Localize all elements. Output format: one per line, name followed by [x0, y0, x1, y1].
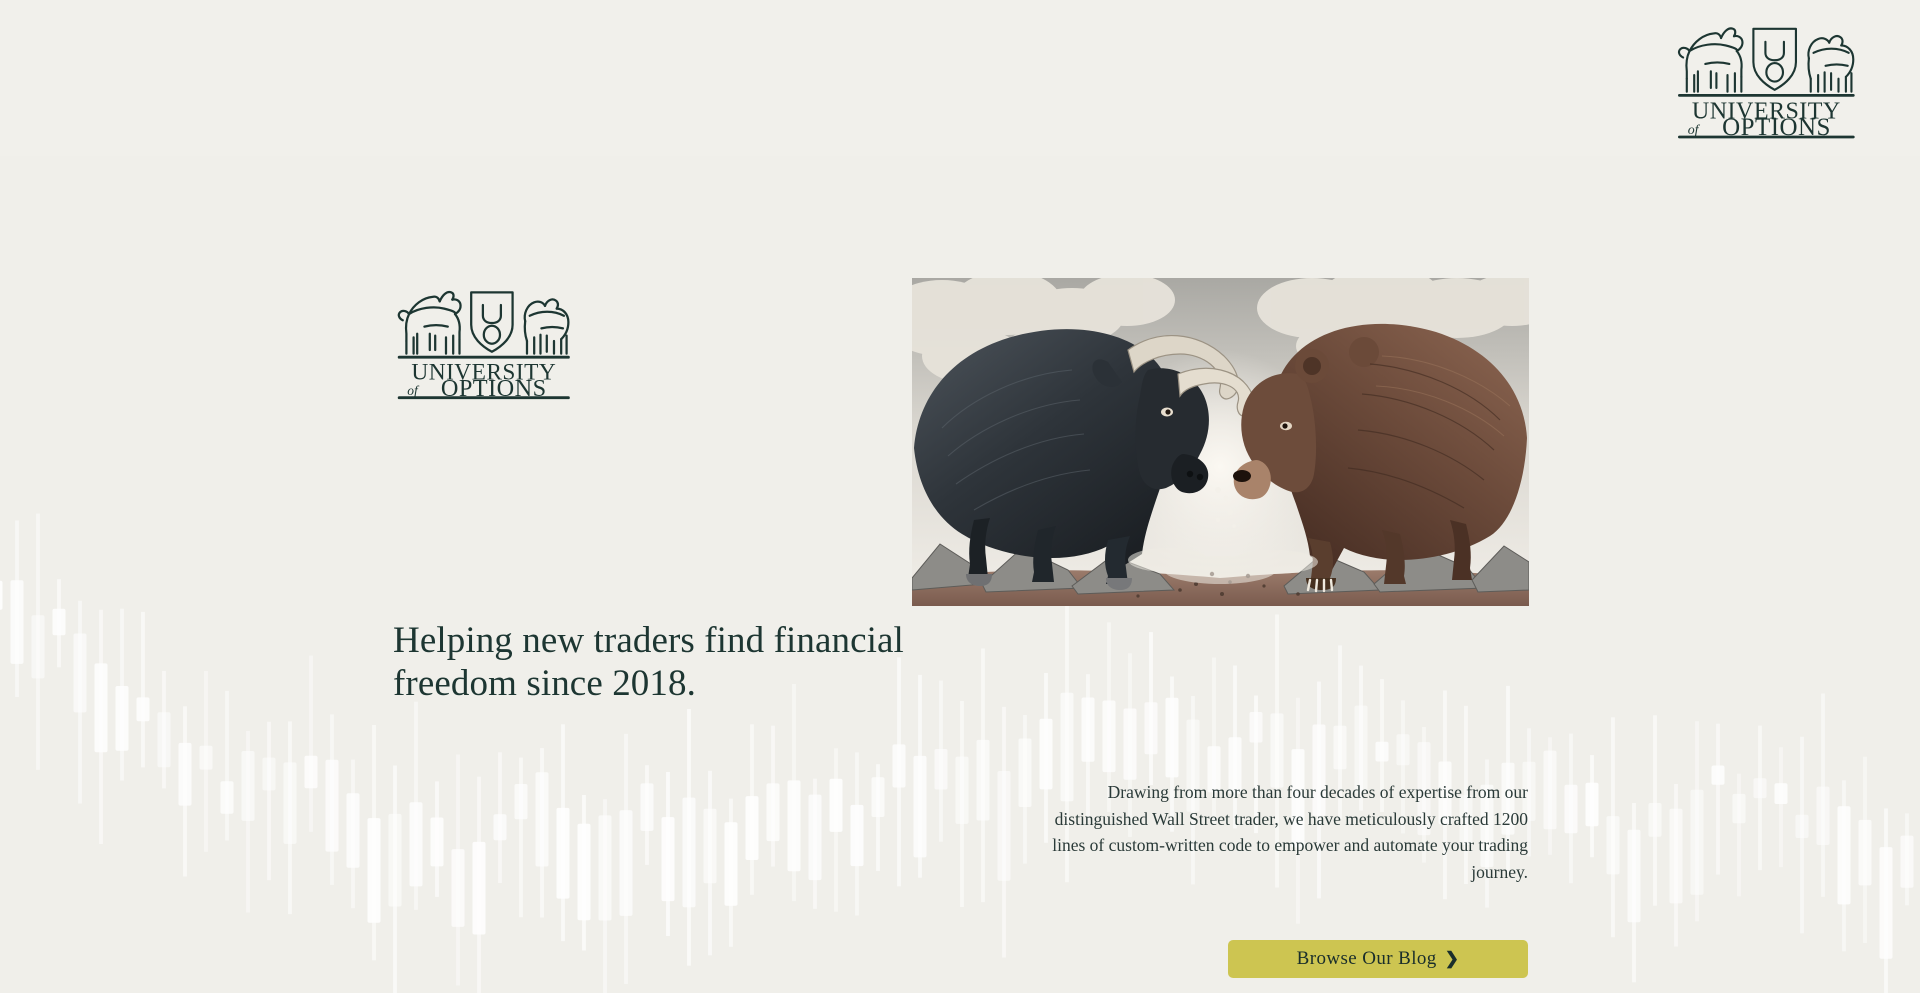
cta-row: Browse Our Blog ❯ — [1228, 940, 1528, 978]
browse-our-blog-label: Browse Our Blog — [1297, 948, 1437, 970]
hero-logo-mark: UNIVERSITY of OPTIONS — [392, 278, 572, 400]
chevron-right-icon: ❯ — [1445, 950, 1460, 967]
bull-vs-bear-artwork — [912, 278, 1529, 606]
bear-icon — [525, 299, 569, 353]
shield-uo-monogram-icon — [471, 292, 512, 351]
page-title: Helping new traders find financial freed… — [393, 620, 913, 706]
hero-description: Drawing from more than four decades of e… — [1033, 779, 1528, 885]
bull-vs-bear-illustration — [912, 278, 1529, 606]
bull-icon — [1679, 28, 1742, 91]
shield-uo-monogram-icon — [1753, 29, 1796, 90]
hero-logo: UNIVERSITY of OPTIONS — [392, 278, 572, 410]
header-logo-mark: UNIVERSITY of OPTIONS — [1672, 14, 1857, 140]
hero-logo-line2: OPTIONS — [441, 375, 547, 401]
bull-icon — [399, 292, 461, 354]
bear-icon — [1808, 36, 1853, 92]
header-logo-line2: OPTIONS — [1722, 114, 1831, 140]
browse-our-blog-button[interactable]: Browse Our Blog ❯ — [1228, 940, 1528, 978]
site-header: UNIVERSITY of OPTIONS — [0, 0, 1920, 156]
header-logo[interactable]: UNIVERSITY of OPTIONS — [1672, 14, 1857, 140]
